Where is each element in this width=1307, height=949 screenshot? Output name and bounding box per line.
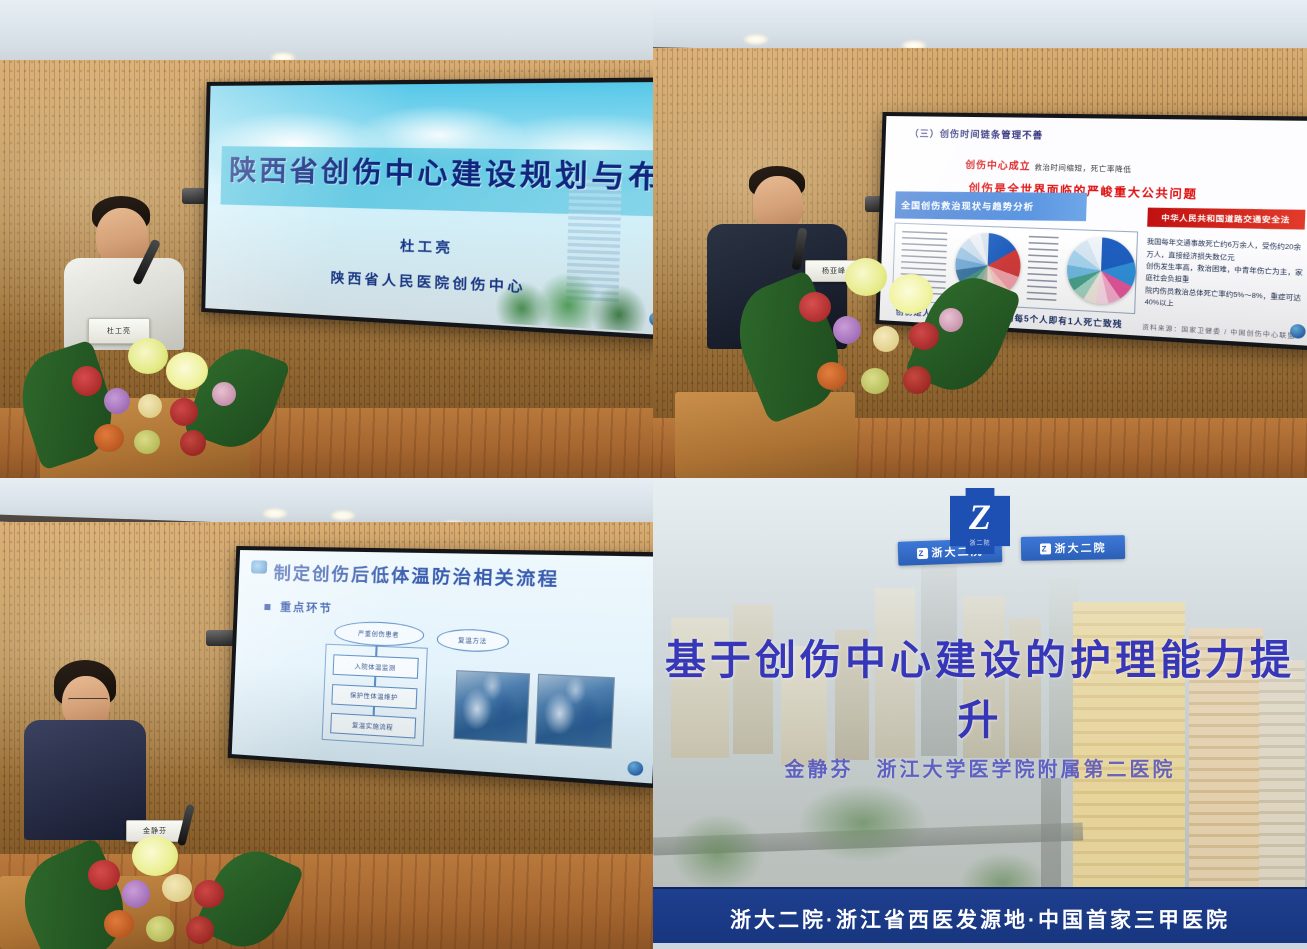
flower-bloom bbox=[104, 388, 130, 414]
slide-red-badge: 中华人民共和国道路交通安全法 bbox=[1147, 207, 1305, 229]
slide-blue-bar: 全国创伤救治现状与趋势分析 bbox=[895, 192, 1087, 221]
slide-red-line-1: 创伤中心成立 救治时间缩短，死亡率降低 bbox=[965, 156, 1132, 174]
slide-corner-logo-icon bbox=[1290, 324, 1306, 339]
ceiling-downlight bbox=[743, 34, 769, 45]
flower-bloom bbox=[94, 424, 124, 452]
flower-bloom bbox=[903, 366, 931, 394]
signage-badge-icon: Z bbox=[916, 547, 927, 558]
slide-footer: 资料来源：国家卫健委 / 中国创伤中心联盟 bbox=[1142, 322, 1296, 341]
slide-red-subtext: 救治时间缩短，死亡率降低 bbox=[1034, 164, 1131, 174]
signage-badge-icon: Z bbox=[1039, 543, 1050, 554]
projection-screen: 制定创伤后低体温防治相关流程 重点环节 严重创伤患者 复温方法 入院体温监测 保… bbox=[228, 546, 653, 788]
signage-text: 浙大二院 bbox=[1054, 539, 1106, 556]
collage-panel-bottom-left: 制定创伤后低体温防治相关流程 重点环节 严重创伤患者 复温方法 入院体温监测 保… bbox=[0, 478, 653, 949]
logo-subtext: 浙二院 bbox=[950, 538, 1010, 547]
lecture-hall-scene: （三）创伤时间链条管理不善 创伤中心成立 救治时间缩短，死亡率降低 创伤是全世界… bbox=[653, 0, 1307, 478]
flower-bloom bbox=[88, 860, 120, 890]
flower-bloom bbox=[861, 368, 889, 394]
ceiling-downlight bbox=[330, 510, 356, 521]
lecture-hall-scene: 制定创伤后低体温防治相关流程 重点环节 严重创伤患者 复温方法 入院体温监测 保… bbox=[0, 478, 653, 949]
pie-chart-right bbox=[1066, 237, 1137, 306]
flower-bloom bbox=[128, 338, 168, 374]
presentation-title-slide: Z 浙大二院 Z 浙大二院 Z 浙二院 基于创伤中心建设的护理能力提升 金静芬 … bbox=[653, 478, 1307, 949]
speaker-person bbox=[24, 660, 204, 840]
ceiling-downlight bbox=[262, 508, 288, 519]
flow-oval-side: 复温方法 bbox=[436, 628, 510, 652]
presentation-title: 基于创伤中心建设的护理能力提升 bbox=[653, 626, 1307, 746]
flower-bloom bbox=[873, 326, 899, 352]
presentation-presenter: 金静芬 浙江大学医学院附属第二医院 bbox=[653, 753, 1307, 782]
projection-screen-frame: 陕西省创伤中心建设规划与布局 杜工亮 陕西省人民医院创伤中心 bbox=[201, 77, 653, 340]
flower-bloom bbox=[134, 430, 160, 454]
collage-panel-top-right: （三）创伤时间链条管理不善 创伤中心成立 救治时间缩短，死亡率降低 创伤是全世界… bbox=[653, 0, 1307, 478]
flower-arrangement bbox=[34, 836, 284, 949]
flower-bloom bbox=[166, 352, 208, 390]
banner-bottom-edge bbox=[653, 943, 1307, 949]
flower-bloom bbox=[170, 398, 198, 426]
slide-content-3: 制定创伤后低体温防治相关流程 重点环节 严重创伤患者 复温方法 入院体温监测 保… bbox=[232, 550, 653, 783]
flower-bloom bbox=[799, 292, 831, 322]
projection-screen-frame: 制定创伤后低体温防治相关流程 重点环节 严重创伤患者 复温方法 入院体温监测 保… bbox=[228, 546, 653, 788]
slide-photo-left bbox=[453, 670, 530, 744]
flower-bloom bbox=[939, 308, 963, 332]
slide-bottom-banner: 浙大二院·浙江省西医发源地·中国首家三甲医院 bbox=[653, 887, 1307, 949]
chart-legend bbox=[1026, 236, 1058, 302]
flower-bloom bbox=[212, 382, 236, 406]
projection-screen: 陕西省创伤中心建设规划与布局 杜工亮 陕西省人民医院创伤中心 bbox=[201, 77, 653, 340]
flower-arrangement bbox=[749, 246, 999, 446]
flow-box: 入院体温监测 bbox=[332, 654, 418, 679]
slide-subtitle: 重点环节 bbox=[280, 598, 334, 616]
slide-title: 制定创伤后低体温防治相关流程 bbox=[273, 559, 643, 593]
hospital-logo-icon: Z 浙二院 bbox=[950, 488, 1010, 554]
banner-text: 浙大二院·浙江省西医发源地·中国首家三甲医院 bbox=[730, 904, 1230, 934]
flower-arrangement bbox=[30, 330, 280, 478]
flower-bloom bbox=[817, 362, 847, 390]
flower-bloom bbox=[889, 274, 933, 314]
photo-collage: 陕西省创伤中心建设规划与布局 杜工亮 陕西省人民医院创伤中心 杜工亮 bbox=[0, 0, 1307, 949]
slide-bullet-list: 我国每年交通事故死亡约6万余人，受伤约20余万人，直接经济损失数亿元 创伤发生率… bbox=[1145, 236, 1305, 317]
flower-bloom bbox=[909, 322, 939, 350]
slide-content-1: 陕西省创伤中心建设规划与布局 杜工亮 陕西省人民医院创伤中心 bbox=[205, 82, 653, 336]
flower-bloom bbox=[194, 880, 224, 908]
eyeglasses-icon bbox=[68, 698, 108, 703]
flower-bloom bbox=[162, 874, 192, 902]
slide-photo-right bbox=[535, 674, 615, 749]
flower-bloom bbox=[146, 916, 174, 942]
flower-bloom bbox=[833, 316, 861, 344]
slide-corner-logo-icon bbox=[628, 761, 644, 776]
slide-header-line: （三）创伤时间链条管理不善 bbox=[909, 127, 1303, 147]
flower-bloom bbox=[138, 394, 162, 418]
slide-hospital-logo-icon bbox=[251, 560, 267, 573]
flower-bloom bbox=[122, 880, 150, 908]
flower-bloom bbox=[186, 916, 214, 944]
collage-panel-top-left: 陕西省创伤中心建设规划与布局 杜工亮 陕西省人民医院创伤中心 杜工亮 bbox=[0, 0, 653, 478]
flower-bloom bbox=[104, 910, 134, 938]
slide-red-text: 创伤中心成立 bbox=[965, 160, 1031, 173]
collage-panel-bottom-right: Z 浙大二院 Z 浙大二院 Z 浙二院 基于创伤中心建设的护理能力提升 金静芬 … bbox=[653, 478, 1307, 949]
flower-bloom bbox=[845, 258, 887, 296]
flower-bloom bbox=[180, 430, 206, 456]
lecture-hall-scene: 陕西省创伤中心建设规划与布局 杜工亮 陕西省人民医院创伤中心 杜工亮 bbox=[0, 0, 653, 478]
building-signage: Z 浙大二院 bbox=[1021, 535, 1125, 561]
flower-bloom bbox=[132, 836, 178, 876]
flower-bloom bbox=[72, 366, 102, 396]
